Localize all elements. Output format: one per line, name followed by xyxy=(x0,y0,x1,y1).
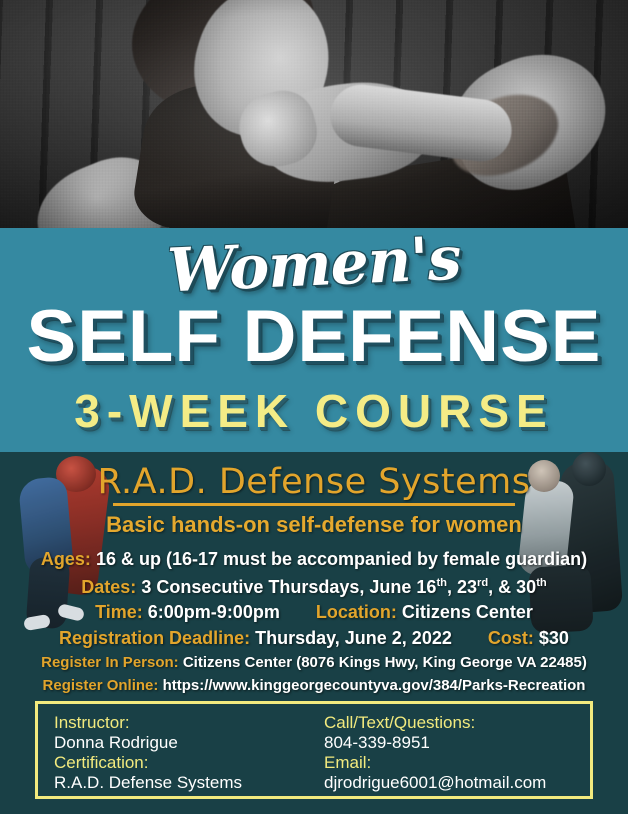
register-online-url[interactable]: https://www.kinggeorgecountyva.gov/384/P… xyxy=(163,677,586,694)
phone-label: Call/Text/Questions: xyxy=(324,713,590,733)
program-title: R.A.D. Defense Systems xyxy=(0,462,628,502)
info-line-deadline-cost: Registration Deadline: Thursday, June 2,… xyxy=(0,625,628,651)
time-label: Time: xyxy=(95,602,143,622)
register-online-label: Register Online: xyxy=(43,677,159,694)
title-banner: Women's SELF DEFENSE 3-WEEK COURSE xyxy=(0,228,628,452)
deadline-label: Registration Deadline: xyxy=(59,628,250,648)
cost-value: $30 xyxy=(539,628,569,648)
info-line-register-online: Register Online: https://www.kinggeorgec… xyxy=(0,675,628,697)
register-in-person-label: Register In Person: xyxy=(41,654,179,671)
info-line-ages: Ages: 16 & up (16-17 must be accompanied… xyxy=(0,547,628,571)
email-label: Email: xyxy=(324,753,590,773)
ages-value: 16 & up (16-17 must be accompanied by fe… xyxy=(96,549,587,569)
deadline-value: Thursday, June 2, 2022 xyxy=(255,628,452,648)
info-line-register-in-person: Register In Person: Citizens Center (807… xyxy=(0,651,628,675)
main-title-self-defense: SELF DEFENSE xyxy=(0,300,628,373)
time-value: 6:00pm-9:00pm xyxy=(148,602,280,622)
flyer-poster: Women's SELF DEFENSE 3-WEEK COURSE R.A.D… xyxy=(0,0,628,814)
dates-value-part2: , 23 xyxy=(447,577,477,597)
instructor-label: Instructor: xyxy=(54,713,324,733)
cost-label: Cost: xyxy=(488,628,534,648)
phone-value[interactable]: 804-339-8951 xyxy=(324,733,590,753)
info-line-time-location: Time: 6:00pm-9:00pm Location: Citizens C… xyxy=(0,599,628,625)
location-label: Location: xyxy=(316,602,397,622)
dates-ordinal-1: th xyxy=(436,577,447,589)
certification-label: Certification: xyxy=(54,753,324,773)
dates-ordinal-2: rd xyxy=(477,577,488,589)
dates-value-part1: 3 Consecutive Thursdays, June 16 xyxy=(141,577,436,597)
dates-label: Dates: xyxy=(81,577,136,597)
subtitle-three-week-course: 3-WEEK COURSE xyxy=(0,388,628,434)
info-line-dates: Dates: 3 Consecutive Thursdays, June 16t… xyxy=(0,571,628,599)
dates-ordinal-3: th xyxy=(536,577,547,589)
dates-value-part3: , & 30 xyxy=(488,577,536,597)
hero-grain-texture xyxy=(0,0,628,230)
register-in-person-value: Citizens Center (8076 Kings Hwy, King Ge… xyxy=(183,654,587,671)
email-value[interactable]: djrodrigue6001@hotmail.com xyxy=(324,773,590,793)
course-info-block: Ages: 16 & up (16-17 must be accompanied… xyxy=(0,547,628,697)
program-tagline: Basic hands-on self-defense for women xyxy=(0,512,628,538)
dates-value: 3 Consecutive Thursdays, June 16th, 23rd… xyxy=(141,577,546,597)
location-value: Citizens Center xyxy=(402,602,533,622)
hero-photo xyxy=(0,0,628,230)
details-section: R.A.D. Defense Systems Basic hands-on se… xyxy=(0,452,628,814)
contact-grid: Instructor: Call/Text/Questions: Donna R… xyxy=(54,713,590,793)
contact-box: Instructor: Call/Text/Questions: Donna R… xyxy=(35,701,593,799)
ages-label: Ages: xyxy=(41,549,91,569)
certification-value: R.A.D. Defense Systems xyxy=(54,773,324,793)
program-title-underline xyxy=(113,503,515,506)
instructor-value: Donna Rodrigue xyxy=(54,733,324,753)
